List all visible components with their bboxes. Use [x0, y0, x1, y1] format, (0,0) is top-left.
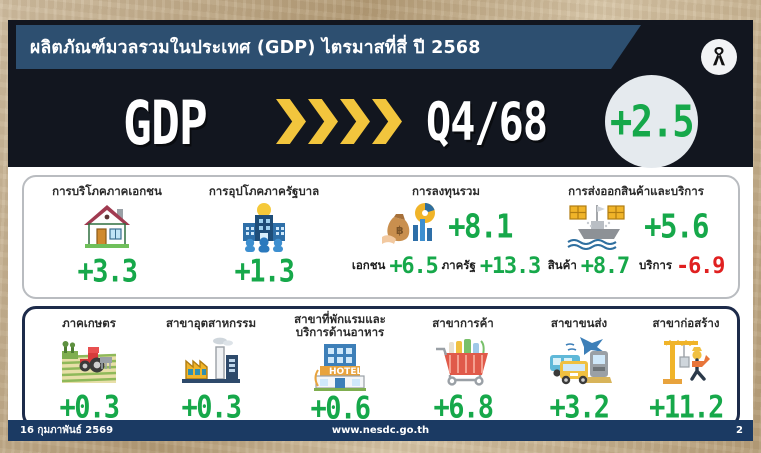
header-title-band: ผลิตภัณฑ์มวลรวมในประเทศ (GDP) ไตรมาสที่ส…	[16, 25, 641, 69]
hotel-icon: HOTEL	[275, 339, 405, 393]
house-icon	[32, 198, 182, 256]
expenditure-item-government-consumption: การอุปโภคภาครัฐบาล	[184, 185, 344, 287]
expenditure-item-label: การบริโภคภาคเอกชน	[32, 185, 182, 198]
chevron-right-icon	[308, 99, 338, 144]
government-building-icon	[184, 198, 344, 256]
expenditure-item-value: +3.3	[32, 254, 182, 290]
sector-item-label: สาขาอุตสาหกรรม	[147, 317, 275, 330]
sector-item-construction: สาขาก่อสร้าง +11.2	[633, 317, 739, 423]
tractor-farm-icon	[31, 330, 147, 392]
transport-bus-plane-train-icon	[521, 330, 637, 392]
expenditure-item-label: การส่งออกสินค้าและบริการ	[536, 185, 736, 198]
footer-page-number: 2	[736, 425, 743, 436]
subitem-value: +6.5	[389, 254, 437, 279]
header-bar: ผลิตภัณฑ์มวลรวมในประเทศ (GDP) ไตรมาสที่ส…	[8, 20, 753, 167]
sector-item-transport: สาขาขนส่ง	[521, 317, 637, 423]
construction-crane-icon	[633, 330, 739, 392]
expenditure-item-value: +1.3	[184, 254, 344, 290]
slide-canvas: ผลิตภัณฑ์มวลรวมในประเทศ (GDP) ไตรมาสที่ส…	[8, 20, 753, 441]
sector-item-agriculture: ภาคเกษตร +0.3	[31, 317, 147, 423]
footer-bar: 16 กุมภาพันธ์ 2569 www.nesdc.go.th 2	[8, 420, 753, 441]
sector-item-industry: สาขาอุตสาหกรรม +0.3	[147, 317, 275, 423]
sector-item-label: สาขาการค้า	[405, 317, 521, 330]
factory-icon	[147, 330, 275, 392]
chevron-right-icon	[372, 99, 402, 144]
subitem-value: +8.7	[581, 254, 629, 279]
expenditure-item-value: +5.6	[644, 206, 708, 245]
expenditure-subitems: สินค้า +8.7 บริการ -6.9	[536, 254, 736, 279]
cargo-ship-icon	[564, 201, 636, 251]
sectors-panel: ภาคเกษตร +0.3	[22, 306, 740, 428]
sector-item-label-line1: สาขาที่พักแรมและ	[275, 313, 405, 326]
expenditure-item-label: การลงทุนรวม	[346, 185, 546, 198]
subitem-label: ภาครัฐ	[442, 257, 476, 275]
quarter-label: Q4/68	[426, 92, 547, 153]
subitem-label: บริการ	[639, 257, 672, 275]
shopping-cart-icon	[405, 330, 521, 392]
subitem-value: -6.9	[676, 254, 724, 279]
chevron-right-icon	[276, 99, 306, 144]
expenditure-item-exports: การส่งออกสินค้าและบริการ	[536, 185, 736, 279]
page-title: ผลิตภัณฑ์มวลรวมในประเทศ (GDP) ไตรมาสที่ส…	[16, 33, 481, 61]
gdp-headline-value: +2.5	[610, 96, 693, 147]
sector-item-accommodation: สาขาที่พักแรมและ บริการด้านอาหาร HOTEL	[275, 313, 405, 424]
subitem-label: เอกชน	[352, 257, 385, 275]
expenditure-item-private-consumption: การบริโภคภาคเอกชน +3.3	[32, 185, 182, 287]
subitem-label: สินค้า	[548, 257, 577, 275]
gdp-label: GDP	[123, 88, 207, 159]
sector-item-label-line2: บริการด้านอาหาร	[275, 326, 405, 339]
expenditure-item-total-investment: การลงทุนรวม ฿ +8	[346, 185, 546, 279]
footer-website: www.nesdc.go.th	[8, 425, 753, 436]
chevron-right-icon	[340, 99, 370, 144]
expenditure-item-label: การอุปโภคภาครัฐบาล	[184, 185, 344, 198]
sector-item-trade: สาขาการค้า +6.8	[405, 317, 521, 423]
gdp-banner: GDP Q4/68 +2.5	[8, 72, 753, 167]
double-chevron-right-icon	[276, 99, 402, 144]
expenditure-item-value: +8.1	[448, 206, 512, 245]
expenditure-subitems: เอกชน +6.5 ภาครัฐ +13.3	[346, 254, 546, 279]
sector-item-label: ภาคเกษตร	[31, 317, 147, 330]
gdp-headline-badge: +2.5	[605, 75, 698, 168]
sector-item-label: สาขาก่อสร้าง	[633, 317, 739, 330]
sector-item-label: สาขาขนส่ง	[521, 317, 637, 330]
expenditure-panel: การบริโภคภาคเอกชน +3.3 การอุปโภคภาครัฐบา…	[22, 175, 740, 299]
subitem-value: +13.3	[480, 254, 540, 279]
svg-text:฿: ฿	[396, 224, 404, 237]
black-mourning-ribbon-icon	[701, 39, 737, 75]
money-bag-chart-icon: ฿	[380, 201, 442, 251]
